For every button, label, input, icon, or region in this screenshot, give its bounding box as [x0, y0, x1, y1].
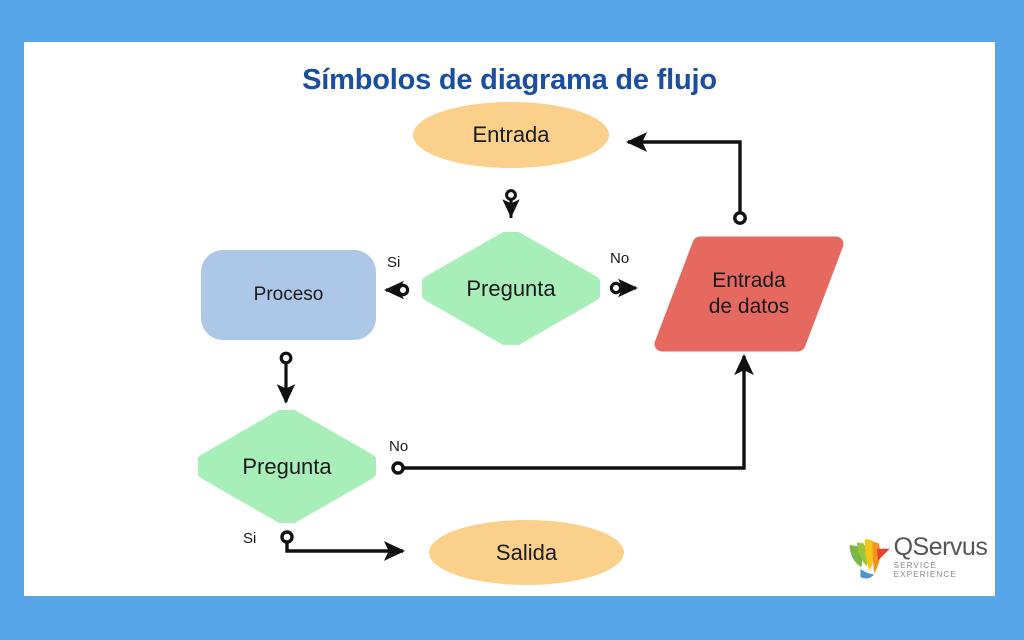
- qservus-wordmark: QServus: [894, 535, 994, 560]
- node-entrada-datos-label: Entrada de datos: [654, 236, 844, 352]
- node-salida[interactable]: Salida: [429, 520, 624, 585]
- qservus-logo: QServus SERVICE EXPERIENCE: [844, 529, 994, 585]
- qservus-tagline: SERVICE EXPERIENCE: [894, 562, 994, 578]
- connector-datos-to-entrada: [628, 142, 745, 223]
- node-pregunta-1-label: Pregunta: [422, 232, 600, 345]
- node-pregunta-2[interactable]: Pregunta: [198, 410, 376, 523]
- connector-label-pregunta2-no: No: [389, 438, 408, 455]
- node-pregunta-2-label: Pregunta: [198, 410, 376, 523]
- connector-pregunta1-no-to-datos: [611, 283, 636, 292]
- connector-proceso-to-pregunta2: [281, 353, 291, 402]
- diagram-canvas: Símbolos de diagrama de flujo Proceso (h…: [24, 42, 995, 596]
- node-entrada[interactable]: Entrada: [413, 102, 609, 168]
- page-title: Símbolos de diagrama de flujo: [24, 64, 995, 97]
- screenshot-root: Símbolos de diagrama de flujo Proceso (h…: [0, 0, 1024, 640]
- qservus-mark-icon: [844, 531, 892, 583]
- node-pregunta-1[interactable]: Pregunta: [422, 232, 600, 345]
- connector-pregunta1-si-to-proceso: [386, 285, 408, 294]
- node-entrada-datos-line1: Entrada: [709, 268, 790, 294]
- connector-label-pregunta1-si: Si: [387, 254, 400, 271]
- connector-label-pregunta1-no: No: [610, 250, 629, 267]
- node-proceso-label: Proceso: [254, 284, 324, 306]
- connector-entrada-to-pregunta1: [507, 191, 516, 218]
- node-proceso[interactable]: Proceso: [201, 250, 376, 340]
- node-entrada-label: Entrada: [472, 122, 549, 147]
- node-salida-label: Salida: [496, 540, 557, 565]
- connector-pregunta2-si-to-salida: [282, 532, 403, 551]
- connector-pregunta2-no-to-datos: [393, 356, 744, 473]
- node-entrada-datos[interactable]: Entrada de datos: [654, 236, 844, 352]
- connector-label-pregunta2-si: Si: [243, 530, 256, 547]
- node-entrada-datos-line2: de datos: [709, 294, 790, 320]
- qservus-logo-text: QServus SERVICE EXPERIENCE: [894, 535, 994, 578]
